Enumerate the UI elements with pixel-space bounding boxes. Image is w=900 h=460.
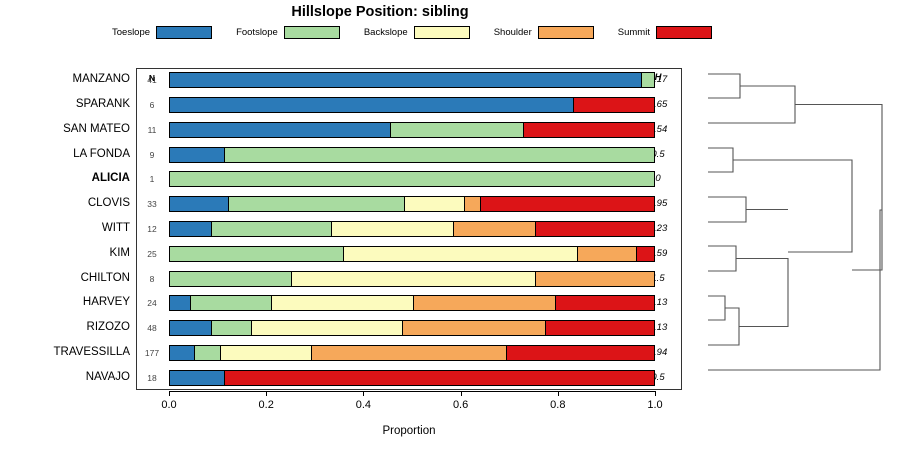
legend-label-backslope: Backslope [364,27,408,38]
legend-swatch-shoulder [538,26,594,39]
category-label-manzano: MANZANO [0,74,130,86]
n-value: 11 [138,126,166,135]
bar-segment-footslope [390,123,523,137]
x-tick-label: 0.0 [149,399,189,411]
bar-segment-footslope [170,247,343,261]
stacked-bar [169,97,655,113]
stacked-bar [169,72,655,88]
bar-segment-summit [523,123,654,137]
x-tick-label: 0.4 [343,399,383,411]
category-label-la-fonda: LA FONDA [0,149,130,161]
stacked-bar [169,345,655,361]
x-axis-line [169,391,655,392]
category-label-harvey: HARVEY [0,297,130,309]
bar-segment-toeslope [170,98,573,112]
column-header-h: H [636,73,680,83]
x-tick [558,391,559,396]
n-value: 12 [138,225,166,234]
bar-segment-footslope [170,272,291,286]
legend-item-summit: Summit [618,26,712,39]
x-tick [655,391,656,396]
legend: Toeslope Footslope Backslope Shoulder Su… [112,23,712,41]
category-label-alicia: ALICIA [0,173,130,185]
n-value: 177 [138,349,166,358]
bar-segment-footslope [194,346,220,360]
page-title: Hillslope Position: sibling [0,4,760,20]
x-tick [363,391,364,396]
legend-label-summit: Summit [618,27,650,38]
legend-label-shoulder: Shoulder [494,27,532,38]
bar-segment-summit [573,98,654,112]
bar-segment-footslope [170,172,654,186]
bar-segment-summit [480,197,654,211]
n-value: 24 [138,299,166,308]
bar-segment-summit [545,321,654,335]
dendrogram-svg [700,60,896,390]
bar-segment-toeslope [170,148,224,162]
stacked-bar [169,122,655,138]
bar-segment-toeslope [170,321,211,335]
legend-swatch-footslope [284,26,340,39]
bar-segment-backslope [404,197,464,211]
stacked-bar [169,295,655,311]
x-tick-label: 0.2 [246,399,286,411]
bar-segment-backslope [343,247,577,261]
category-label-kim: KIM [0,248,130,260]
bar-segment-backslope [331,222,453,236]
legend-label-footslope: Footslope [236,27,278,38]
stacked-bar [169,196,655,212]
n-value: 33 [138,200,166,209]
x-tick [461,391,462,396]
category-label-witt: WITT [0,223,130,235]
bar-segment-shoulder [311,346,505,360]
x-tick [169,391,170,396]
bar-segment-backslope [271,296,413,310]
bar-segment-summit [224,371,654,385]
column-header-n: N [138,74,166,83]
bar-segment-backslope [251,321,402,335]
n-value: 9 [138,151,166,160]
legend-swatch-backslope [414,26,470,39]
n-value: 25 [138,250,166,259]
bar-segment-backslope [291,272,535,286]
bar-segment-footslope [190,296,271,310]
category-label-chilton: CHILTON [0,273,130,285]
n-value: 1 [138,175,166,184]
stacked-bar [169,320,655,336]
bar-segment-shoulder [577,247,636,261]
bar-segment-toeslope [170,197,228,211]
legend-item-footslope: Footslope [236,26,340,39]
stacked-bar [169,370,655,386]
legend-item-shoulder: Shoulder [494,26,594,39]
legend-item-backslope: Backslope [364,26,470,39]
bar-segment-shoulder [453,222,535,236]
n-value: 6 [138,101,166,110]
x-tick-label: 0.6 [441,399,481,411]
legend-swatch-toeslope [156,26,212,39]
bar-segment-toeslope [170,346,194,360]
legend-item-toeslope: Toeslope [112,26,212,39]
n-value: 18 [138,374,166,383]
bar-segment-toeslope [170,222,211,236]
bar-segment-toeslope [170,371,224,385]
x-axis-title: Proportion [136,425,682,437]
n-value: 8 [138,275,166,284]
x-tick [266,391,267,396]
stacked-bar [169,147,655,163]
category-label-travessilla: TRAVESSILLA [0,347,130,359]
bar-segment-toeslope [170,123,390,137]
bar-segment-summit [506,346,654,360]
bar-segment-toeslope [170,73,641,87]
bar-segment-shoulder [464,197,480,211]
bar-segment-summit [555,296,654,310]
legend-swatch-summit [656,26,712,39]
category-label-san-mateo: SAN MATEO [0,124,130,136]
hierarchical-cluster-dendrogram [700,60,896,390]
bar-segment-footslope [228,197,404,211]
category-label-clovis: CLOVIS [0,198,130,210]
stacked-bar [169,221,655,237]
bar-segment-toeslope [170,296,190,310]
stacked-bar [169,271,655,287]
bar-segment-shoulder [402,321,545,335]
bar-segment-shoulder [413,296,555,310]
bar-segment-summit [535,222,654,236]
stacked-bar [169,246,655,262]
category-label-navajo: NAVAJO [0,372,130,384]
category-label-rizozo: RIZOZO [0,322,130,334]
n-value: 48 [138,324,166,333]
bar-segment-summit [636,247,654,261]
bar-segment-footslope [211,222,332,236]
bar-segment-footslope [211,321,251,335]
stacked-bar [169,171,655,187]
bar-segment-backslope [220,346,311,360]
category-label-sparank: SPARANK [0,99,130,111]
x-tick-label: 1.0 [635,399,675,411]
bar-segment-footslope [224,148,654,162]
stacked-bar-rows: 410.1760.65111.5490.510331.95122.23251.5… [136,68,682,390]
x-tick-label: 0.8 [538,399,578,411]
legend-label-toeslope: Toeslope [112,27,150,38]
bar-segment-shoulder [535,272,654,286]
